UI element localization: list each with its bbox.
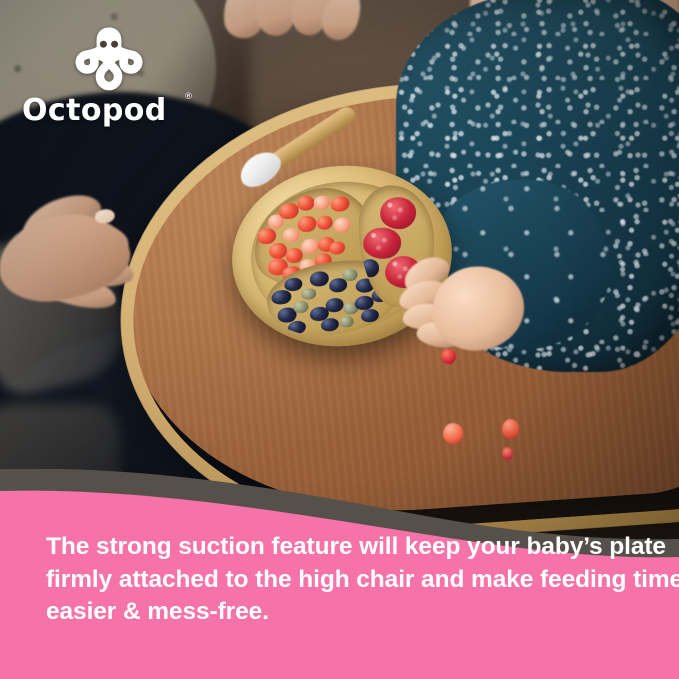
caption-line-1: The strong suction feature will keep you… bbox=[46, 531, 646, 564]
strawberry-crumb bbox=[443, 423, 463, 444]
baby-hand bbox=[394, 246, 531, 371]
octopus-logo-icon bbox=[68, 20, 150, 94]
brand-wordmark: Octopod bbox=[22, 94, 202, 128]
adult-palm bbox=[0, 207, 135, 309]
product-lifestyle-ad: Octopod ® The strong suction feature wil… bbox=[0, 0, 679, 679]
brand-name: Octopod bbox=[22, 93, 167, 128]
caption-text: The strong suction feature will keep you… bbox=[46, 531, 646, 629]
caption-line-2: firmly attached to the high chair and ma… bbox=[46, 564, 646, 597]
strawberry-crumb bbox=[502, 419, 519, 439]
adult-fingernail bbox=[94, 208, 116, 225]
caption-line-3: easier & mess-free. bbox=[46, 596, 646, 629]
adult-hand bbox=[0, 185, 166, 327]
brand-logo: Octopod ® bbox=[22, 20, 202, 120]
strawberry-crumb bbox=[502, 447, 513, 460]
caption-banner: The strong suction feature will keep you… bbox=[0, 469, 679, 679]
registered-trademark-icon: ® bbox=[184, 92, 193, 102]
